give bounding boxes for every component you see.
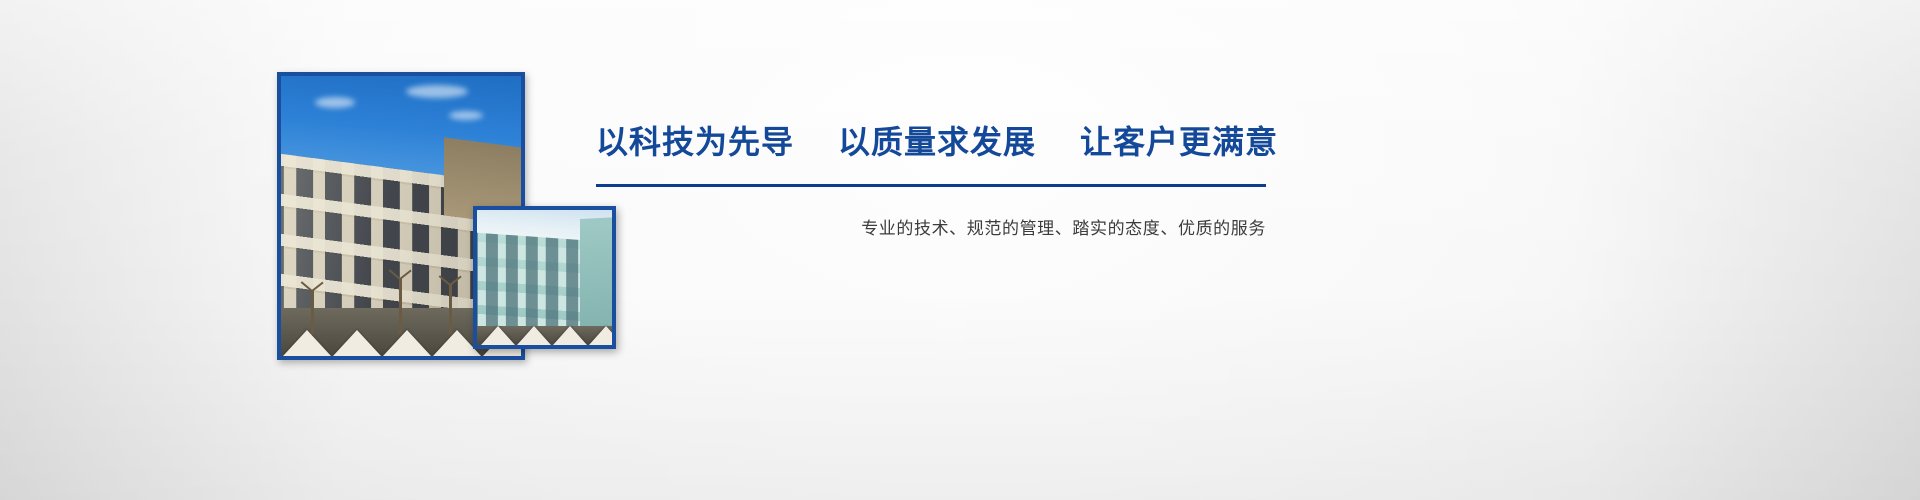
tent-canopy: [481, 326, 515, 345]
headline-segment-2: 以质量求发展: [838, 120, 1036, 164]
cloud-shape: [449, 111, 483, 120]
cloud-shape: [315, 97, 355, 108]
tree-shape: [399, 278, 402, 334]
photo-office-building-secondary: [473, 206, 616, 349]
tree-shape: [449, 284, 452, 334]
headline-segment-1: 以科技为先导: [596, 120, 794, 164]
photo-secondary-content: [477, 210, 612, 345]
banner-text-block: 以科技为先导 以质量求发展 让客户更满意 专业的技术、规范的管理、踏实的态度、优…: [596, 120, 1296, 242]
tent-canopy: [589, 326, 612, 345]
headline-segment-3: 让客户更满意: [1080, 120, 1278, 164]
banner-headline: 以科技为先导 以质量求发展 让客户更满意: [596, 120, 1296, 164]
tent-canopy: [333, 330, 381, 356]
tent-canopy: [553, 326, 587, 345]
tent-canopy: [283, 330, 331, 356]
banner-subtitle: 专业的技术、规范的管理、踏实的态度、优质的服务: [596, 216, 1266, 242]
tree-shape: [311, 290, 314, 334]
tent-canopy: [383, 330, 431, 356]
company-banner: 以科技为先导 以质量求发展 让客户更满意 专业的技术、规范的管理、踏实的态度、优…: [0, 0, 1920, 500]
photo-group: [0, 0, 700, 500]
cloud-shape: [406, 85, 468, 98]
headline-divider: [596, 184, 1266, 187]
tent-canopy: [517, 326, 551, 345]
